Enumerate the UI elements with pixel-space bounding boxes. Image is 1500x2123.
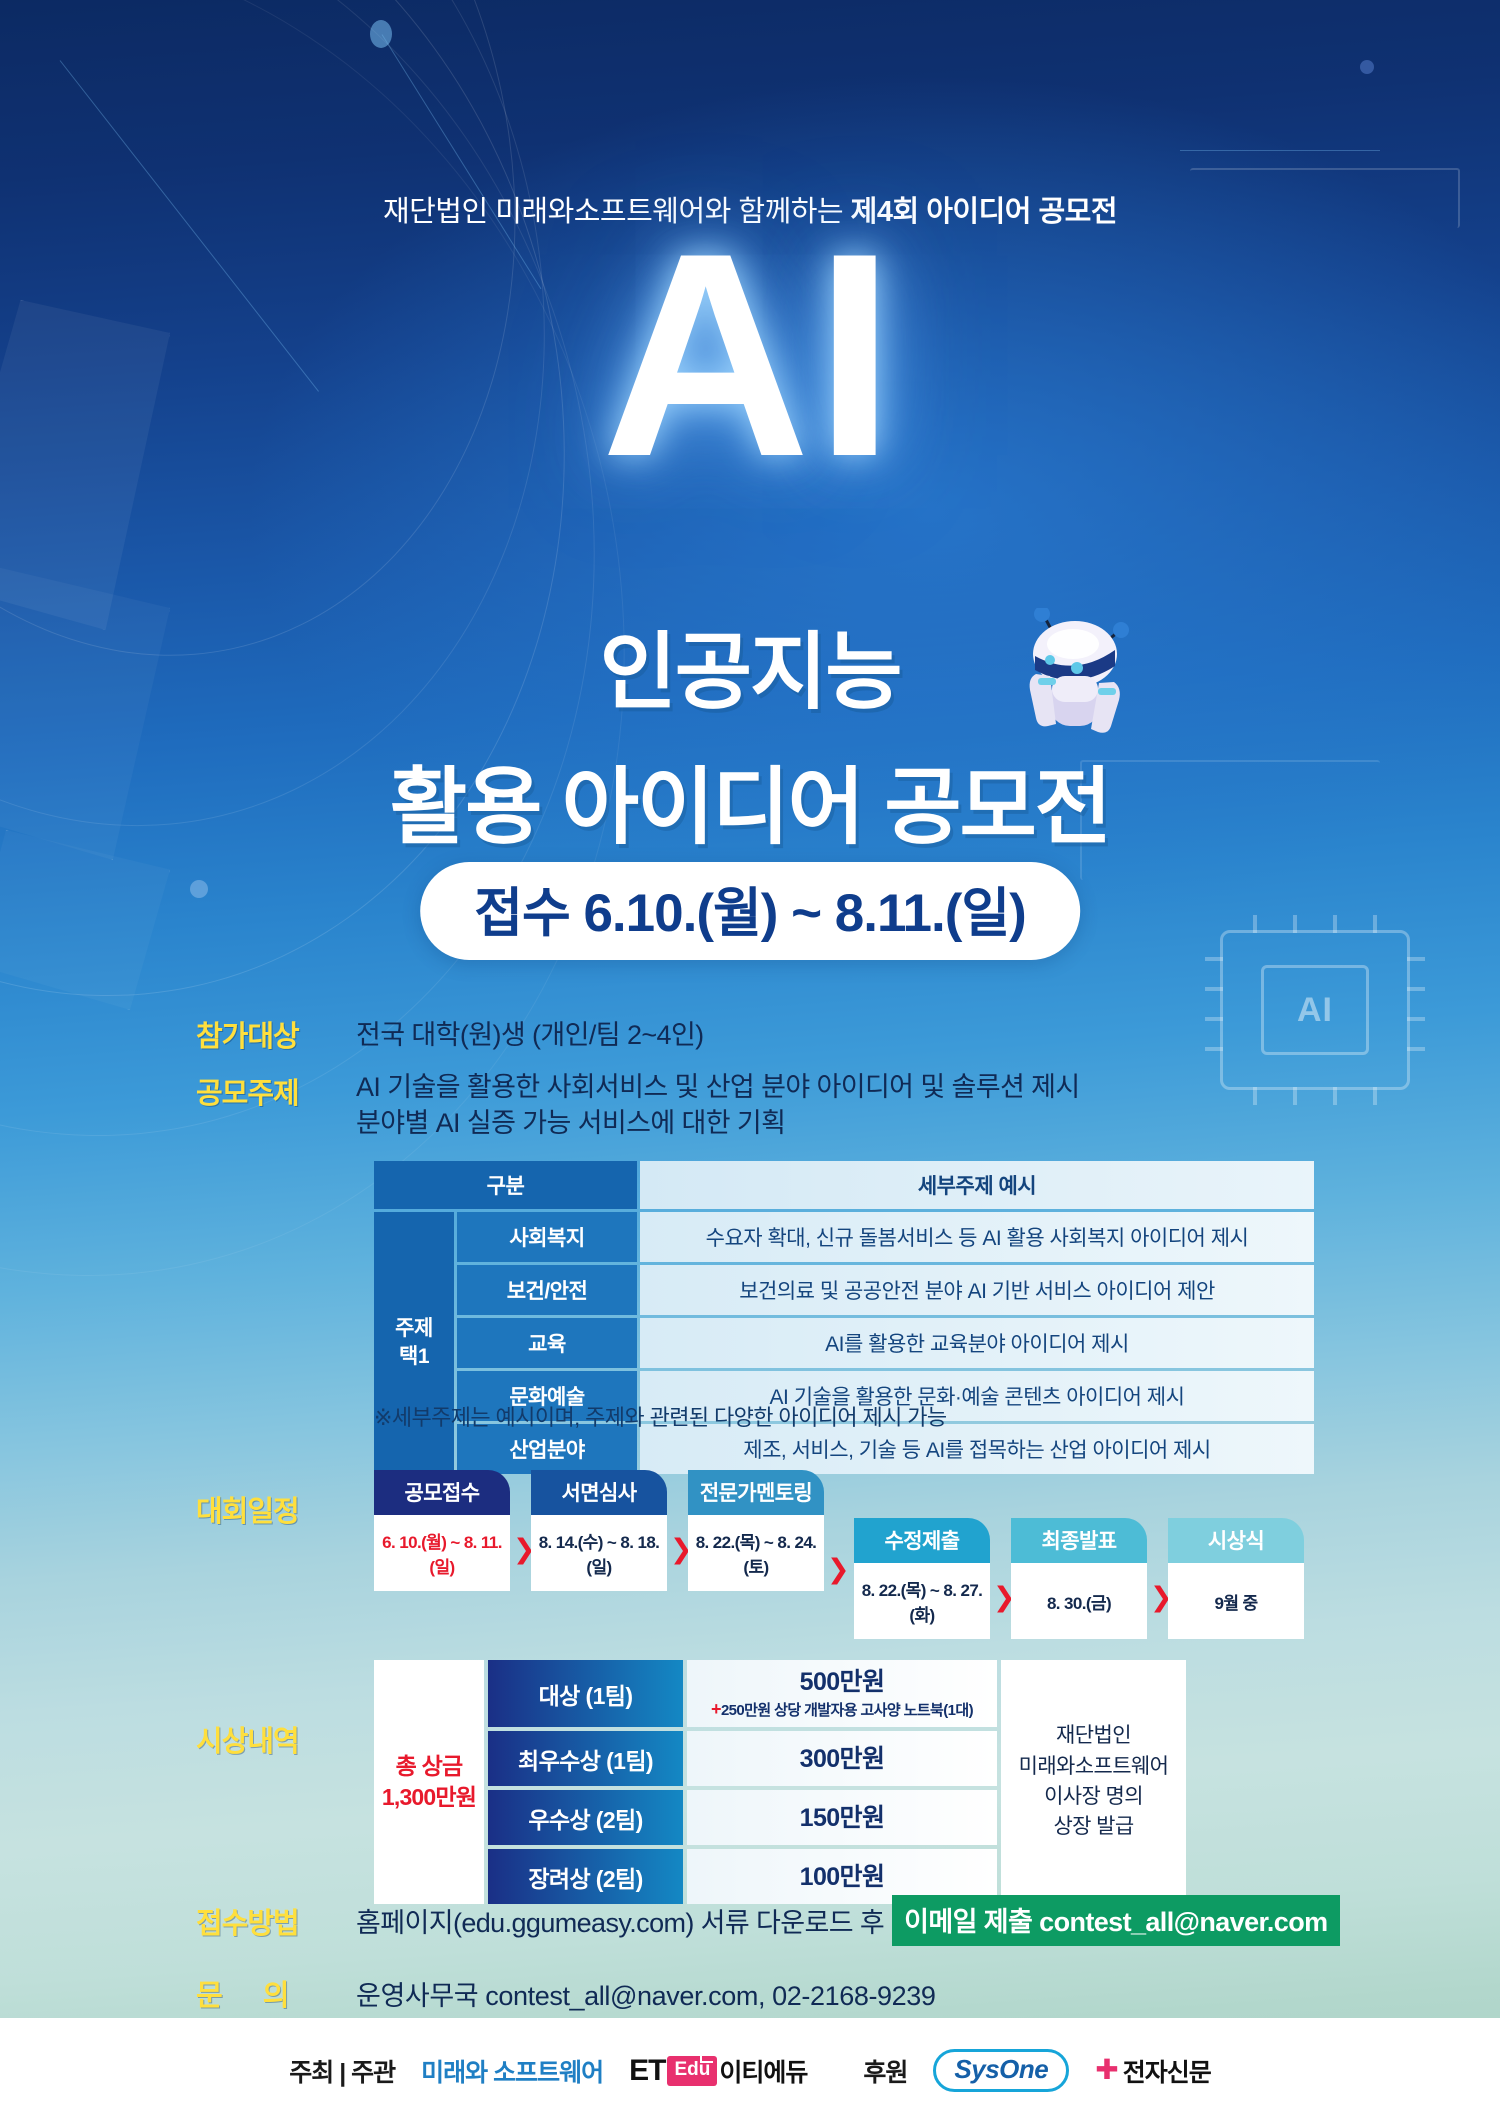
prize-row: 최우수상 (1팀)300만원 <box>488 1731 997 1786</box>
topic-row-category: 사회복지 <box>457 1212 637 1262</box>
headline-line-2: 활용 아이디어 공모전 <box>0 740 1500 861</box>
schedule-step: 서면심사8. 14.(수) ~ 8. 18.(일) <box>531 1470 667 1591</box>
schedule-step-title: 최종발표 <box>1011 1518 1147 1563</box>
support-label: 후원 <box>863 2053 907 2089</box>
ai-chip-motif-icon: AI <box>1220 930 1410 1090</box>
topic-row-category: 교육 <box>457 1318 637 1368</box>
topic-row-desc: AI를 활용한 교육분야 아이디어 제시 <box>640 1318 1314 1368</box>
prize-amount: 300만원 <box>687 1731 997 1786</box>
schedule-step: 시상식9월 중 <box>1168 1518 1304 1639</box>
footer-sponsors: 주최 | 주관 미래와 소프트웨어 ET Edu 이티에듀 후원 SysOne … <box>0 2018 1500 2123</box>
schedule-step-title: 전문가멘토링 <box>688 1470 824 1515</box>
schedule-step-title: 시상식 <box>1168 1518 1304 1563</box>
topic-row: 사회복지수요자 확대, 신규 돌봄서비스 등 AI 활용 사회복지 아이디어 제… <box>457 1212 1314 1262</box>
schedule-step-date: 6. 10.(월) ~ 8. 11.(일) <box>374 1515 510 1591</box>
topic-row: 보건/안전보건의료 및 공공안전 분야 AI 기반 서비스 아이디어 제안 <box>457 1265 1314 1315</box>
contact-label: 문 의 <box>196 1972 356 2014</box>
apply-text: 홈페이지(edu.ggumeasy.com) 서류 다운로드 후 <box>356 1901 884 1940</box>
topic-row-desc: 보건의료 및 공공안전 분야 AI 기반 서비스 아이디어 제안 <box>640 1265 1314 1315</box>
etedu-et-mark: ET <box>629 2054 665 2088</box>
topic-row-category: 보건/안전 <box>457 1265 637 1315</box>
schedule-step-date: 8. 14.(수) ~ 8. 18.(일) <box>531 1515 667 1591</box>
schedule-flow: 공모접수6. 10.(월) ~ 8. 11.(일)❯서면심사8. 14.(수) … <box>374 1470 1334 1600</box>
prize-total-label: 총 상금 <box>396 1751 463 1782</box>
robot-mascot-icon <box>1010 608 1140 743</box>
schedule-step: 최종발표8. 30.(금) <box>1011 1518 1147 1639</box>
prize-rows: 대상 (1팀)500만원+250만원 상당 개발자용 고사양 노트북(1대)최우… <box>488 1660 997 1904</box>
contact-value: 운영사무국 contest_all@naver.com, 02-2168-923… <box>356 1974 936 2013</box>
prize-amount-extra: +250만원 상당 개발자용 고사양 노트북(1대) <box>711 1699 973 1721</box>
topic-row-desc: 수요자 확대, 신규 돌봄서비스 등 AI 활용 사회복지 아이디어 제시 <box>640 1212 1314 1262</box>
schedule-step-title: 공모접수 <box>374 1470 510 1515</box>
topic-side-label: 주제 택1 <box>374 1212 454 1474</box>
topic-rows: 사회복지수요자 확대, 신규 돌봄서비스 등 AI 활용 사회복지 아이디어 제… <box>457 1212 1314 1474</box>
etedu-name: 이티에듀 <box>719 2053 807 2089</box>
topic-table-header: 구분 세부주제 예시 <box>374 1161 1314 1209</box>
topic-table-note: ※세부주제는 예시이며, 주제와 관련된 다양한 아이디어 제시 가능 <box>374 1400 947 1432</box>
prize-certificate-line: 미래와소프트웨어 <box>1019 1752 1169 1782</box>
prize-amount: 500만원+250만원 상당 개발자용 고사양 노트북(1대) <box>687 1660 997 1727</box>
topic-table-body: 주제 택1 사회복지수요자 확대, 신규 돌봄서비스 등 AI 활용 사회복지 … <box>374 1212 1314 1474</box>
prize-rank: 대상 (1팀) <box>488 1660 683 1727</box>
schedule-label: 대회일정 <box>196 1488 299 1530</box>
etnews-mark-icon: ✚ <box>1095 2059 1118 2081</box>
row-theme: 공모주제 AI 기술을 활용한 사회서비스 및 산업 분야 아이디어 및 솔루션… <box>196 1070 1080 1141</box>
prize-total-amount: 1,300만원 <box>382 1782 476 1813</box>
apply-label: 접수방법 <box>196 1900 356 1942</box>
application-period-pill: 접수 6.10.(월) ~ 8.11.(일) <box>420 862 1080 960</box>
etnews-name: 전자신문 <box>1123 2053 1211 2089</box>
etedu-logo: ET Edu 이티에듀 <box>629 2053 807 2089</box>
theme-line-2: 분야별 AI 실증 가능 서비스에 대한 기획 <box>356 1106 1080 1142</box>
topic-header-examples: 세부주제 예시 <box>640 1161 1314 1209</box>
schedule-step-date: 8. 22.(목) ~ 8. 24.(토) <box>688 1515 824 1591</box>
schedule-step-date: 8. 30.(금) <box>1011 1563 1147 1639</box>
schedule-step: 공모접수6. 10.(월) ~ 8. 11.(일) <box>374 1470 510 1591</box>
theme-label: 공모주제 <box>196 1070 356 1141</box>
etedu-edu-mark: Edu <box>667 2056 717 2086</box>
theme-line-1: AI 기술을 활용한 사회서비스 및 산업 분야 아이디어 및 솔루션 제시 <box>356 1070 1080 1106</box>
topic-row: 교육AI를 활용한 교육분야 아이디어 제시 <box>457 1318 1314 1368</box>
topic-side-label-line2: 택1 <box>399 1343 429 1371</box>
target-value: 전국 대학(원)생 (개인/팀 2~4인) <box>356 1013 704 1055</box>
host-label: 주최 | 주관 <box>289 2053 395 2089</box>
prize-table: 총 상금 1,300만원 대상 (1팀)500만원+250만원 상당 개발자용 … <box>374 1660 1186 1904</box>
prize-rank: 최우수상 (1팀) <box>488 1731 683 1786</box>
row-target: 참가대상 전국 대학(원)생 (개인/팀 2~4인) <box>196 1013 704 1055</box>
topic-side-label-line1: 주제 <box>395 1315 433 1343</box>
prize-amount-main: 100만원 <box>800 1862 885 1892</box>
prize-certificate-line: 상장 발급 <box>1053 1812 1133 1842</box>
prize-rank: 우수상 (2팀) <box>488 1790 683 1845</box>
etnews-logo: ✚ 전자신문 <box>1095 2053 1210 2089</box>
schedule-step: 전문가멘토링8. 22.(목) ~ 8. 24.(토) <box>688 1470 824 1591</box>
schedule-arrow-icon: ❯ <box>827 1556 850 1583</box>
prize-certificate: 재단법인미래와소프트웨어이사장 명의상장 발급 <box>1001 1660 1186 1904</box>
apply-email-chip[interactable]: 이메일 제출 contest_all@naver.com <box>892 1895 1339 1946</box>
schedule-step-title: 수정제출 <box>854 1518 990 1563</box>
prize-certificate-line: 재단법인 <box>1056 1721 1131 1751</box>
schedule-step-date: 9월 중 <box>1168 1563 1304 1639</box>
schedule-step-title: 서면심사 <box>531 1470 667 1515</box>
prize-row: 우수상 (2팀)150만원 <box>488 1790 997 1845</box>
host-name: 미래와 소프트웨어 <box>421 2053 603 2089</box>
target-label: 참가대상 <box>196 1013 356 1055</box>
row-apply: 접수방법 홈페이지(edu.ggumeasy.com) 서류 다운로드 후 이메… <box>196 1895 1340 1946</box>
headline-line-1: 인공지능 <box>599 605 900 726</box>
prize-row: 대상 (1팀)500만원+250만원 상당 개발자용 고사양 노트북(1대) <box>488 1660 997 1727</box>
headline-line-1-wrap: 인공지능 <box>0 605 1500 726</box>
prize-label: 시상내역 <box>196 1718 299 1760</box>
prize-amount-main: 300만원 <box>800 1744 885 1774</box>
prize-certificate-line: 이사장 명의 <box>1044 1782 1143 1812</box>
poster-root: AI 재단법인 미래와소프트웨어와 함께하는 제4회 아이디어 공모전 AI 인… <box>0 0 1500 2123</box>
schedule-step: 수정제출8. 22.(목) ~ 8. 27.(화) <box>854 1518 990 1639</box>
prize-amount-main: 500만원 <box>800 1667 885 1697</box>
sysone-logo: SysOne <box>933 2049 1069 2092</box>
topic-header-category: 구분 <box>374 1161 637 1209</box>
apply-value: 홈페이지(edu.ggumeasy.com) 서류 다운로드 후 이메일 제출 … <box>356 1895 1340 1946</box>
prize-amount-main: 150만원 <box>800 1803 885 1833</box>
theme-value: AI 기술을 활용한 사회서비스 및 산업 분야 아이디어 및 솔루션 제시 분… <box>356 1070 1080 1141</box>
prize-amount: 150만원 <box>687 1790 997 1845</box>
ai-wordmark: AI <box>0 228 1500 483</box>
row-contact: 문 의 운영사무국 contest_all@naver.com, 02-2168… <box>196 1972 936 2014</box>
schedule-step-date: 8. 22.(목) ~ 8. 27.(화) <box>854 1563 990 1639</box>
prize-total: 총 상금 1,300만원 <box>374 1660 484 1904</box>
